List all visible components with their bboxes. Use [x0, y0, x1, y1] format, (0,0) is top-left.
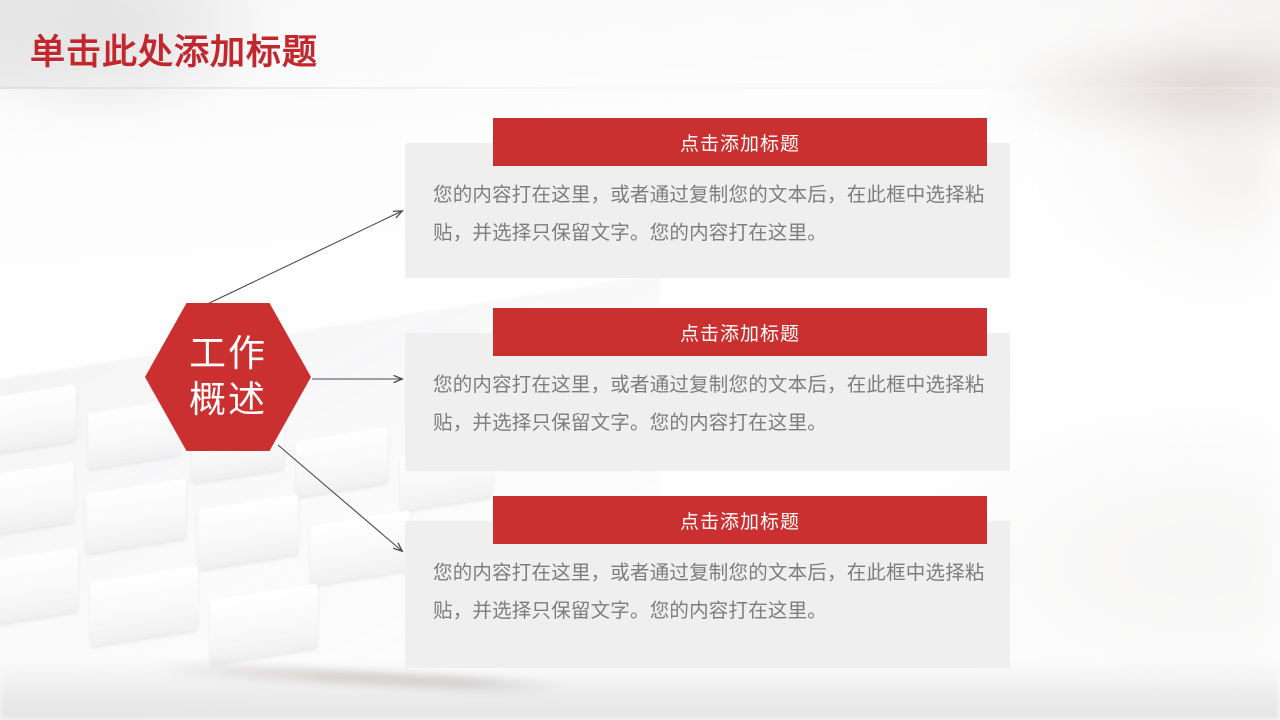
card-header-2[interactable]: 点击添加标题	[493, 308, 987, 356]
card-body-1: 您的内容打在这里，或者通过复制您的文本后，在此框中选择粘贴，并选择只保留文字。您…	[433, 176, 991, 252]
card-header-label-1: 点击添加标题	[680, 129, 800, 156]
card-header-label-2: 点击添加标题	[680, 319, 800, 346]
page-title: 单击此处添加标题	[30, 24, 318, 75]
hexagon-label-line1: 工作	[189, 331, 267, 377]
slide-canvas: 单击此处添加标题 工作 概述 点击添加标题 您的内容打在这里，或者通过复制您的文…	[0, 0, 1280, 720]
header-divider	[0, 87, 1280, 89]
card-header-3[interactable]: 点击添加标题	[493, 496, 987, 544]
card-header-1[interactable]: 点击添加标题	[493, 118, 987, 166]
card-body-3: 您的内容打在这里，或者通过复制您的文本后，在此框中选择粘贴，并选择只保留文字。您…	[433, 554, 991, 630]
hexagon-label-line2: 概述	[189, 377, 267, 423]
card-body-2: 您的内容打在这里，或者通过复制您的文本后，在此框中选择粘贴，并选择只保留文字。您…	[433, 366, 991, 442]
card-header-label-3: 点击添加标题	[680, 507, 800, 534]
